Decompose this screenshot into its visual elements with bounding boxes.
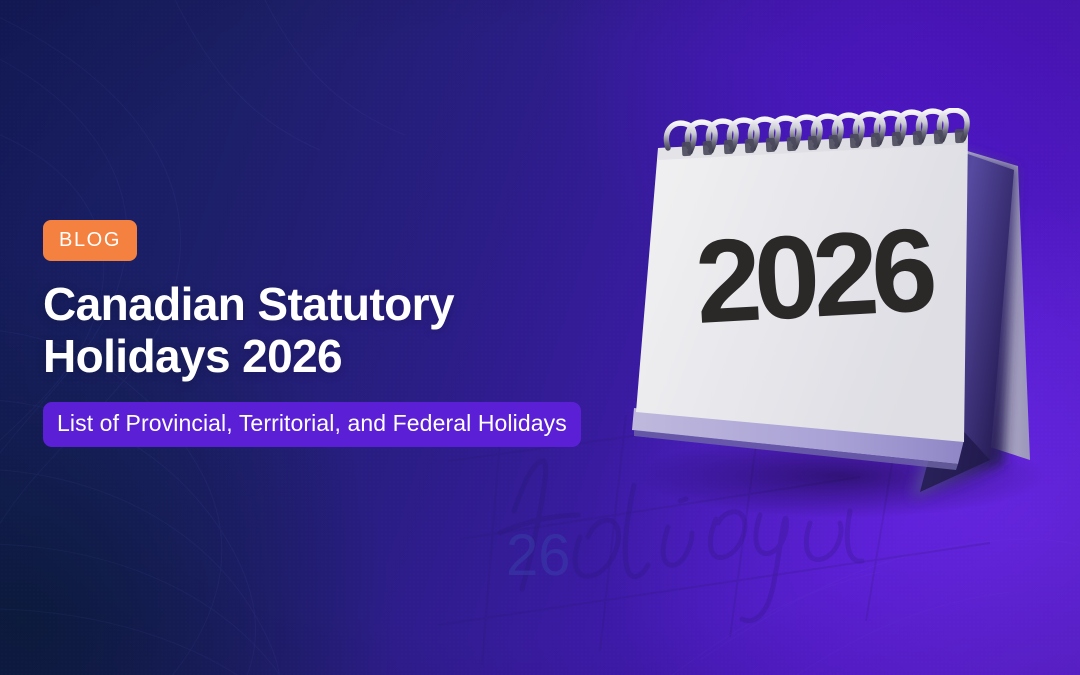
- calendar-year-text: 2026: [692, 204, 937, 349]
- calendar-year-label: 2026: [692, 204, 937, 349]
- desk-calendar-illustration: 2026: [612, 108, 1080, 538]
- headline-line-2: Holidays 2026: [43, 331, 663, 383]
- headline-line-1: Canadian Statutory: [43, 279, 663, 331]
- blog-badge[interactable]: BLOG: [43, 220, 137, 261]
- blog-banner: 26 BLOG Canadian Statutory Holidays 2026…: [0, 0, 1080, 675]
- subtitle-pill: List of Provincial, Territorial, and Fed…: [43, 402, 581, 447]
- page-title: Canadian Statutory Holidays 2026: [43, 279, 663, 382]
- svg-text:26: 26: [506, 523, 571, 588]
- banner-text-block: BLOG Canadian Statutory Holidays 2026 Li…: [43, 220, 663, 447]
